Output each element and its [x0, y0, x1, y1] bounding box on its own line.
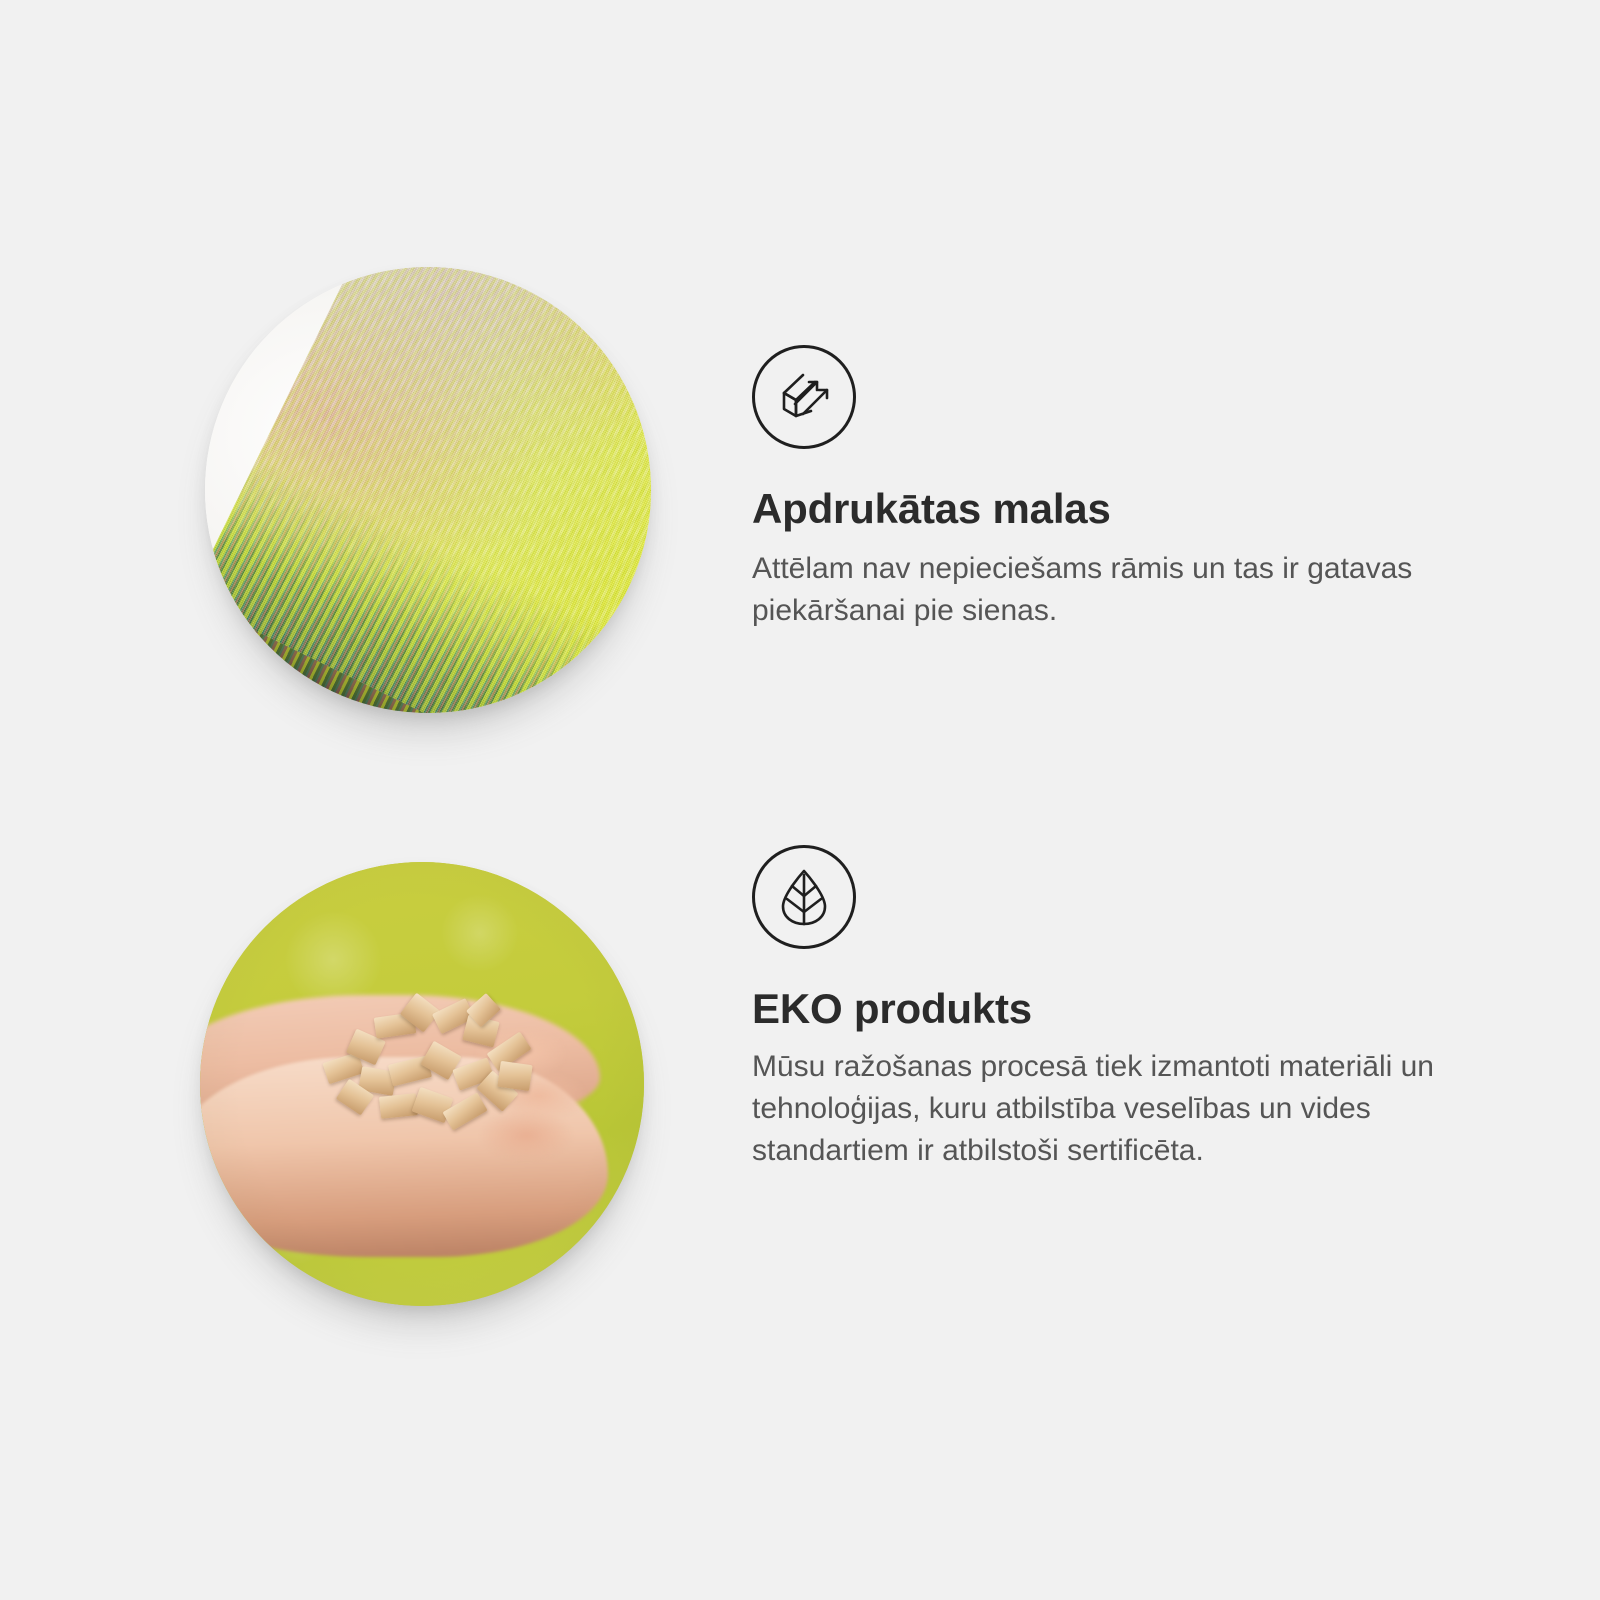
canvas-corner-photo: [205, 267, 651, 713]
leaf-icon: [752, 845, 856, 949]
printed-edges-icon: [752, 345, 856, 449]
feature-printed-edges: Apdrukātas malas Attēlam nav nepieciešam…: [0, 250, 1600, 750]
printed-edges-glyph: [771, 364, 837, 430]
feature-text-printed-edges: Apdrukātas malas Attēlam nav nepieciešam…: [752, 345, 1452, 632]
feature-title: Apdrukātas malas: [752, 485, 1452, 532]
feature-title: EKO produkts: [752, 985, 1452, 1032]
leaf-glyph: [773, 866, 835, 928]
feature-page: Apdrukātas malas Attēlam nav nepieciešam…: [0, 0, 1600, 1600]
wood-chips-in-hands-photo: [200, 862, 644, 1306]
feature-eco: EKO produkts Mūsu ražošanas procesā tiek…: [0, 845, 1600, 1325]
photo-vignette: [200, 862, 644, 1306]
feature-description: Mūsu ražošanas procesā tiek izmantoti ma…: [752, 1046, 1442, 1172]
feature-text-eco: EKO produkts Mūsu ražošanas procesā tiek…: [752, 845, 1452, 1172]
feature-description: Attēlam nav nepieciešams rāmis un tas ir…: [752, 548, 1442, 632]
